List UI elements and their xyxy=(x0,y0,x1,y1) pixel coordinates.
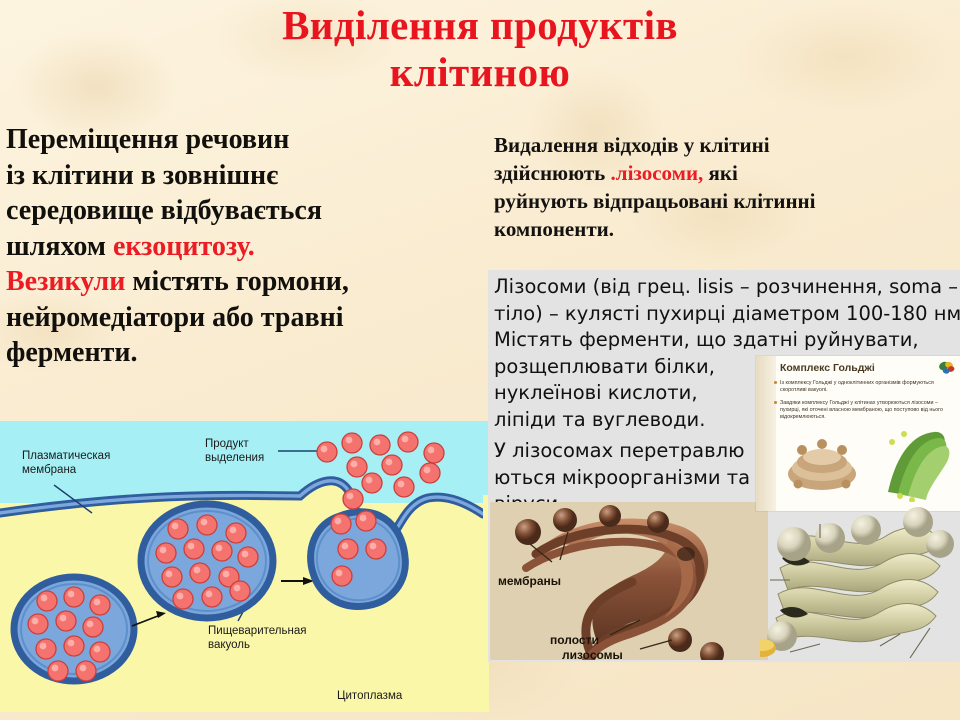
label-digestive-vacuole: Пищеварительная вакуоль xyxy=(208,624,306,652)
flower-logo-icon xyxy=(938,360,956,376)
text-run: руйнують відпрацьовані клітинні xyxy=(494,189,816,213)
left-text-block: Переміщення речовин із клітини в зовнішн… xyxy=(6,122,476,371)
highlighted-term: екзоцитозу. xyxy=(113,231,255,262)
highlighted-term: Везикули xyxy=(6,266,125,297)
text-run: середовище відбувається xyxy=(6,195,322,226)
lysosome-p1-line-1: Лізосоми (від грец. lisis – розчинення, … xyxy=(494,274,960,301)
left-text-line-4: шляхом екзоцитозу. xyxy=(6,229,476,265)
bullet-marker-icon xyxy=(774,401,777,404)
label-membranes: мембраны xyxy=(498,574,561,588)
label-cavities: полости xyxy=(550,633,599,647)
golgi-apparatus-photo: мембраны полости лизосомы xyxy=(490,502,768,660)
page-title: Виділення продуктів клітиною xyxy=(0,2,960,96)
left-text-line-6: нейромедіатори або травні xyxy=(6,300,476,336)
right-text-line-3: руйнують відпрацьовані клітинні xyxy=(494,187,954,215)
text-run: містять гормони, xyxy=(125,266,349,297)
title-line-2: клітиною xyxy=(0,49,960,96)
right-text-block: Видалення відходів у клітиніздійснюють .… xyxy=(494,131,954,243)
text-run: шляхом xyxy=(6,231,113,262)
label-cytoplasm: Цитоплазма xyxy=(337,689,402,703)
text-run: які xyxy=(703,161,738,185)
left-text-line-1: Переміщення речовин xyxy=(6,122,476,158)
card-golgi-illustration xyxy=(782,428,862,500)
text-run: Видалення відходів у клітині xyxy=(494,133,770,157)
right-text-line-4: компоненти. xyxy=(494,215,954,243)
exocytosis-diagram: Плазматическая мембрана Продукт выделени… xyxy=(0,421,483,712)
lysosome-p1-line-2: тіло) – кулясті пухирці діаметром 100-18… xyxy=(494,301,960,328)
golgi-complex-card: Комплекс Гольджі Із комплексу Гольджі у … xyxy=(756,356,960,511)
card-title: Комплекс Гольджі xyxy=(780,362,875,374)
left-text-line-2: із клітини в зовнішнє xyxy=(6,158,476,194)
card-bullet-2: Завдяки комплексу Гольджі у клітинах утв… xyxy=(780,400,952,422)
text-run: компоненти. xyxy=(494,217,614,241)
golgi-stack-illustration xyxy=(760,496,960,662)
title-line-1: Виділення продуктів xyxy=(0,2,960,49)
card-bullet-1: Із комплексу Гольджі у одноклітинних орг… xyxy=(780,380,952,394)
left-text-line-5: Везикули містять гормони, xyxy=(6,264,476,300)
left-text-line-3: середовище відбувається xyxy=(6,193,476,229)
right-text-line-1: Видалення відходів у клітині xyxy=(494,131,954,159)
label-lysosomes: лизосомы xyxy=(562,648,623,660)
lysosome-p1-line-3: Містять ферменти, що здатні руйнувати, xyxy=(494,327,960,354)
bullet-marker-icon xyxy=(774,381,777,384)
text-run: нейромедіатори або травні xyxy=(6,302,344,333)
label-plasma-membrane: Плазматическая мембрана xyxy=(22,449,110,477)
left-text-line-7: ферменти. xyxy=(6,335,476,371)
highlighted-term: .лізосоми, xyxy=(611,161,704,185)
text-run: Переміщення речовин xyxy=(6,124,289,155)
right-text-line-2: здійснюють .лізосоми, які xyxy=(494,159,954,187)
card-green-golgi-illustration xyxy=(878,426,952,502)
text-run: ферменти. xyxy=(6,337,137,368)
text-run: здійснюють xyxy=(494,161,611,185)
text-run: із клітини в зовнішнє xyxy=(6,160,278,191)
card-side-strip xyxy=(756,356,776,511)
lysosome-info-panel: Лізосоми (від грец. lisis – розчинення, … xyxy=(488,270,960,662)
label-secretion-product: Продукт выделения xyxy=(205,437,264,465)
